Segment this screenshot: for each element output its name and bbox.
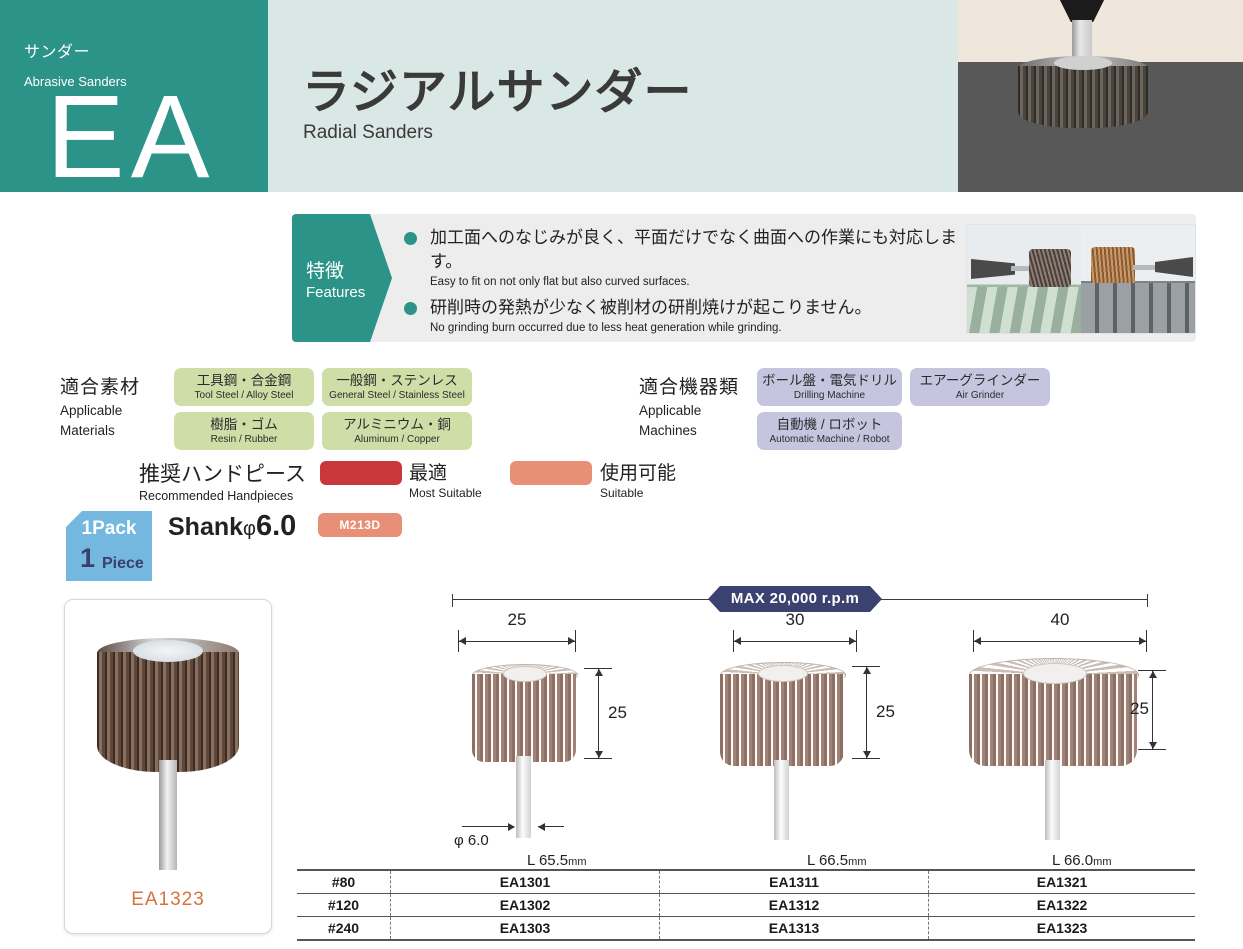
handpieces-label-jp: 推奨ハンドピース	[139, 458, 306, 488]
application-photo-shaft	[1081, 225, 1195, 333]
shank-spec: Shankφ6.0	[168, 510, 296, 543]
applicable-materials-label: 適合素材 Applicable Materials	[60, 372, 140, 439]
series-code: EA	[46, 78, 215, 196]
table-row: #120 EA1302 EA1312 EA1322	[297, 894, 1195, 917]
width-value-1: 25	[458, 610, 576, 630]
shank-label: Shank	[168, 513, 243, 541]
width-dimension-3: 40	[973, 610, 1147, 650]
handpiece-code-badge: M213D	[318, 513, 402, 537]
rpm-rule-cap-left	[452, 594, 453, 607]
photo-wheel-flaps	[1018, 66, 1148, 128]
category-label-jp: サンダー	[24, 38, 90, 62]
materials-label-jp: 適合素材	[60, 372, 140, 399]
product-code-cell[interactable]: EA1322	[929, 894, 1195, 917]
page-title-en: Radial Sanders	[303, 122, 433, 144]
material-chip-general-steel: 一般鋼・ステンレス General Steel / Stainless Stee…	[322, 368, 472, 406]
shaft-dia-arrow-right	[538, 823, 545, 831]
product-code-cell[interactable]: EA1321	[929, 870, 1195, 894]
card-wheel-hub	[133, 640, 203, 662]
photo-wheel-hub	[1054, 56, 1112, 70]
handpieces-label-en: Recommended Handpieces	[139, 489, 306, 503]
shaft-dia-arrow-left	[508, 823, 515, 831]
product-code-table: #80 EA1301 EA1311 EA1321 #120 EA1302 EA1…	[297, 869, 1195, 941]
pack-qty: 1	[80, 545, 95, 572]
shank-dia-value: 6.0	[256, 510, 296, 542]
table-row: #80 EA1301 EA1311 EA1321	[297, 870, 1195, 894]
length-label-2: L 66.5mm	[807, 852, 866, 869]
grit-cell: #80	[297, 870, 391, 894]
legend-swatch-suitable	[510, 461, 592, 485]
materials-label-en1: Applicable	[60, 402, 140, 419]
machines-label-jp: 適合機器類	[639, 372, 739, 399]
legend-swatch-most-suitable	[320, 461, 402, 485]
machine-chip-drilling-machine: ボール盤・電気ドリル Drilling Machine	[757, 368, 902, 406]
product-code-cell[interactable]: EA1313	[660, 917, 929, 941]
shaft-dia-label: φ 6.0	[454, 832, 489, 849]
product-code-cell[interactable]: EA1303	[391, 917, 660, 941]
legend-text-suitable: 使用可能 Suitable	[600, 458, 676, 500]
machine-chip-automatic-robot: 自動機 / ロボット Automatic Machine / Robot	[757, 412, 902, 450]
pack-quantity-badge: 1Pack 1 Piece	[66, 511, 152, 581]
rpm-rule-cap-right	[1147, 594, 1148, 607]
width-value-2: 30	[733, 610, 857, 630]
length-label-1: L 65.5mm	[527, 852, 586, 869]
page-header: サンダー Abrasive Sanders EA ラジアルサンダー Radial…	[0, 0, 1243, 192]
width-dimension-1: 25	[458, 610, 576, 650]
height-dimension-1: 25	[598, 668, 644, 759]
machines-label-en2: Machines	[639, 422, 739, 439]
max-rpm-badge: MAX 20,000 r.p.m	[708, 586, 882, 612]
product-code-cell[interactable]: EA1302	[391, 894, 660, 917]
pack-unit: Piece	[102, 555, 144, 573]
material-chip-tool-steel: 工具鋼・合金鋼 Tool Steel / Alloy Steel	[174, 368, 314, 406]
width-value-3: 40	[973, 610, 1147, 630]
material-chip-aluminum-copper: アルミニウム・銅 Aluminum / Copper	[322, 412, 472, 450]
features-panel: 特徴 Features 加工面へのなじみが良く、平面だけでなく曲面への作業にも対…	[292, 214, 1196, 342]
legend-text-most-suitable: 最適 Most Suitable	[409, 458, 482, 500]
product-code-cell[interactable]: EA1301	[391, 870, 660, 894]
material-chip-resin-rubber: 樹脂・ゴム Resin / Rubber	[174, 412, 314, 450]
features-list: 加工面へのなじみが良く、平面だけでなく曲面への作業にも対応します。 Easy t…	[404, 226, 964, 342]
height-dimension-3: 25	[1152, 670, 1198, 750]
feature-text-jp: 加工面へのなじみが良く、平面だけでなく曲面への作業にも対応します。	[430, 226, 964, 274]
features-application-photo	[966, 224, 1196, 334]
height-dimension-2: 25	[866, 666, 912, 759]
photo-background-wall	[958, 0, 1243, 62]
bullet-icon	[404, 232, 417, 245]
applicable-machines-label: 適合機器類 Applicable Machines	[639, 372, 739, 439]
feature-text-en: Easy to fit on not only flat but also cu…	[430, 274, 964, 290]
materials-label-en2: Materials	[60, 422, 140, 439]
features-tab: 特徴 Features	[292, 214, 392, 342]
card-shaft	[159, 760, 177, 870]
length-label-3: L 66.0mm	[1052, 852, 1111, 869]
product-photo-card[interactable]: EA1323	[64, 599, 272, 934]
machines-label-en1: Applicable	[639, 402, 739, 419]
grit-cell: #120	[297, 894, 391, 917]
shaft-dia-leader	[462, 826, 514, 827]
application-photo-gear	[967, 225, 1081, 333]
features-tab-label-jp: 特徴	[306, 256, 344, 283]
table-row: #240 EA1303 EA1313 EA1323	[297, 917, 1195, 941]
feature-item: 研削時の発熱が少なく被削材の研削焼けが起こりません。 No grinding b…	[404, 296, 964, 336]
machine-chip-air-grinder: エアーグラインダー Air Grinder	[910, 368, 1050, 406]
feature-text-en: No grinding burn occurred due to less he…	[430, 320, 964, 336]
pack-label: 1Pack	[66, 518, 152, 540]
feature-text-jp: 研削時の発熱が少なく被削材の研削焼けが起こりません。	[430, 296, 964, 320]
features-tab-label-en: Features	[306, 284, 365, 301]
product-code-cell[interactable]: EA1312	[660, 894, 929, 917]
recommended-handpieces-label: 推奨ハンドピース Recommended Handpieces	[139, 458, 306, 503]
width-dimension-2: 30	[733, 610, 857, 650]
bullet-icon	[404, 302, 417, 315]
height-value-2: 25	[876, 702, 895, 722]
grit-cell: #240	[297, 917, 391, 941]
product-code-cell[interactable]: EA1311	[660, 870, 929, 894]
page-title-jp: ラジアルサンダー	[302, 52, 693, 122]
height-value-1: 25	[608, 703, 627, 723]
height-value-3: 25	[1130, 699, 1149, 719]
dimension-diagram: MAX 20,000 r.p.m 25 30 40 25 φ 6.0 L 65.…	[452, 580, 1152, 870]
shank-dia-symbol: φ	[243, 518, 256, 540]
product-code-cell[interactable]: EA1323	[929, 917, 1195, 941]
card-wheel-flaps	[97, 652, 239, 772]
hero-product-photo	[958, 0, 1243, 192]
feature-item: 加工面へのなじみが良く、平面だけでなく曲面への作業にも対応します。 Easy t…	[404, 226, 964, 290]
card-product-code: EA1323	[65, 889, 271, 911]
